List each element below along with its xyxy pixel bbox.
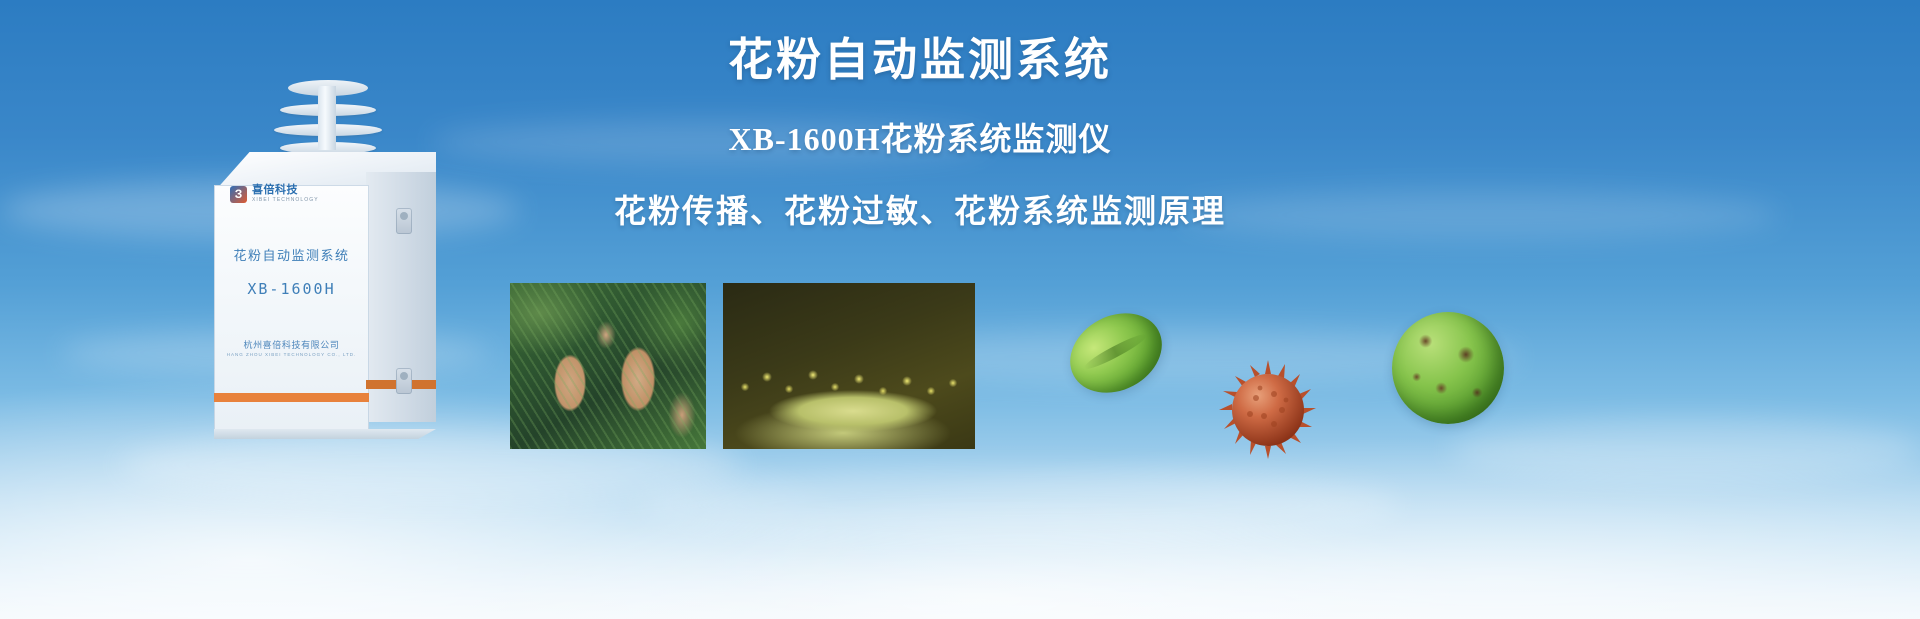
air-inlet-pipe: [318, 86, 336, 150]
cabinet-accent-stripe: [214, 393, 369, 402]
instrument-panel-model: XB-1600H: [214, 280, 369, 298]
catkin-stamens-photo: [723, 283, 975, 449]
brand-name-en: XIBEI TECHNOLOGY: [252, 198, 319, 203]
brand-logo: 喜倍科技 XIBEI TECHNOLOGY: [230, 185, 360, 203]
cloud-decoration: [1450, 420, 1920, 480]
cabinet-latch-lower: [396, 368, 412, 394]
topic-tagline: 花粉传播、花粉过敏、花粉系统监测原理: [600, 186, 1240, 232]
cloud-decoration: [1180, 190, 1780, 240]
xibei-logo-icon: [230, 186, 247, 203]
pollen-monitoring-banner: 喜倍科技 XIBEI TECHNOLOGY 花粉自动监测系统 XB-1600H …: [0, 0, 1920, 619]
instrument-panel-title: 花粉自动监测系统: [214, 245, 369, 264]
cloud-decoration: [640, 470, 1400, 540]
headline-block: 花粉自动监测系统 XB-1600H花粉系统监测仪 花粉传播、花粉过敏、花粉系统监…: [600, 34, 1240, 232]
green-textured-pollen-grain: [1392, 312, 1504, 424]
cabinet-base: [214, 429, 436, 439]
instrument-company-cn: 杭州喜倍科技有限公司: [214, 338, 369, 351]
cabinet-latch-upper: [396, 208, 412, 234]
pollen-monitor-instrument: 喜倍科技 XIBEI TECHNOLOGY 花粉自动监测系统 XB-1600H …: [200, 80, 460, 440]
green-oval-pollen-grain: [1056, 298, 1176, 408]
red-spiky-pollen-grain: [1216, 358, 1320, 462]
page-title: 花粉自动监测系统: [600, 34, 1240, 86]
brand-name-cn: 喜倍科技: [252, 185, 319, 196]
product-model-subtitle: XB-1600H花粉系统监测仪: [600, 114, 1240, 160]
instrument-company-en: HANG ZHOU XIBEI TECHNOLOGY CO., LTD.: [214, 352, 369, 357]
cedar-pollen-cones-photo: [510, 283, 706, 449]
